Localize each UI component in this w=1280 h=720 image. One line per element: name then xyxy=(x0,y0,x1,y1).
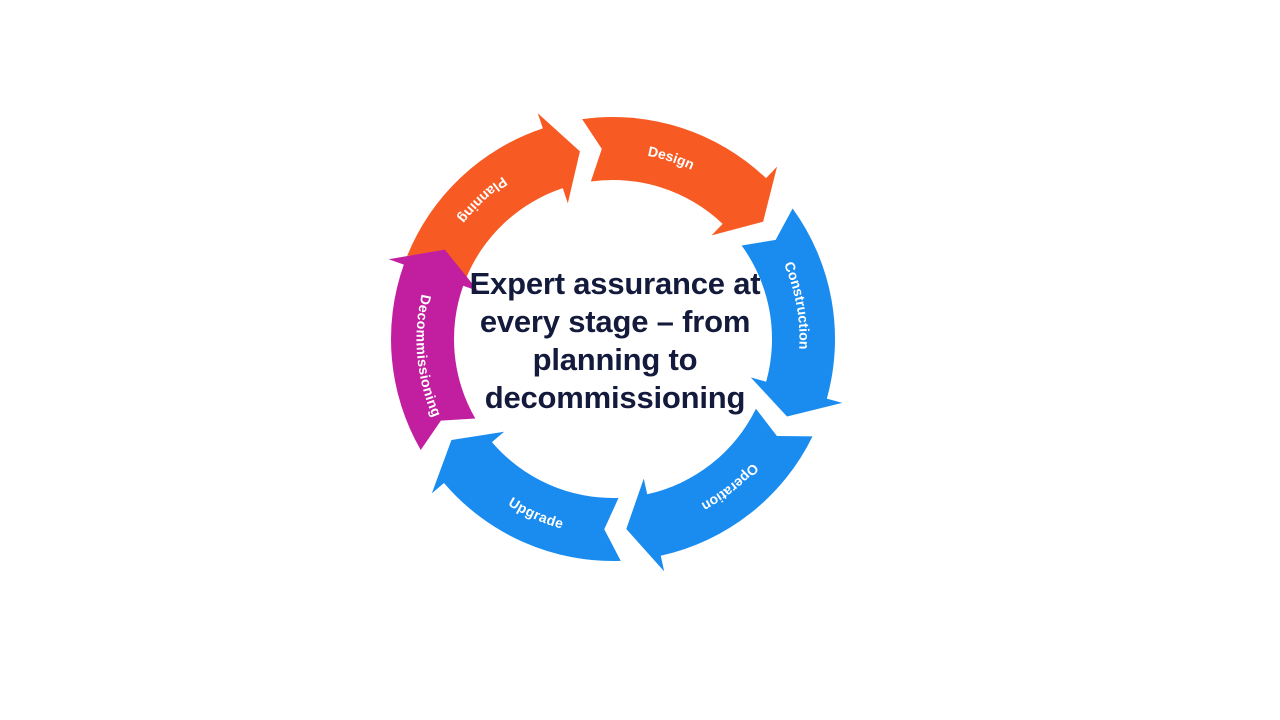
center-caption-line: planning to xyxy=(455,341,775,379)
center-caption-line: decommissioning xyxy=(455,379,775,417)
diagram-canvas: PlanningDesignConstructionOperationUpgra… xyxy=(0,0,1280,720)
cycle-segment-upgrade[interactable] xyxy=(432,432,621,561)
center-caption-line: Expert assurance at xyxy=(455,265,775,303)
center-caption-line: every stage – from xyxy=(455,303,775,341)
center-caption: Expert assurance atevery stage – frompla… xyxy=(455,265,775,417)
cycle-segment-design[interactable] xyxy=(582,117,777,235)
